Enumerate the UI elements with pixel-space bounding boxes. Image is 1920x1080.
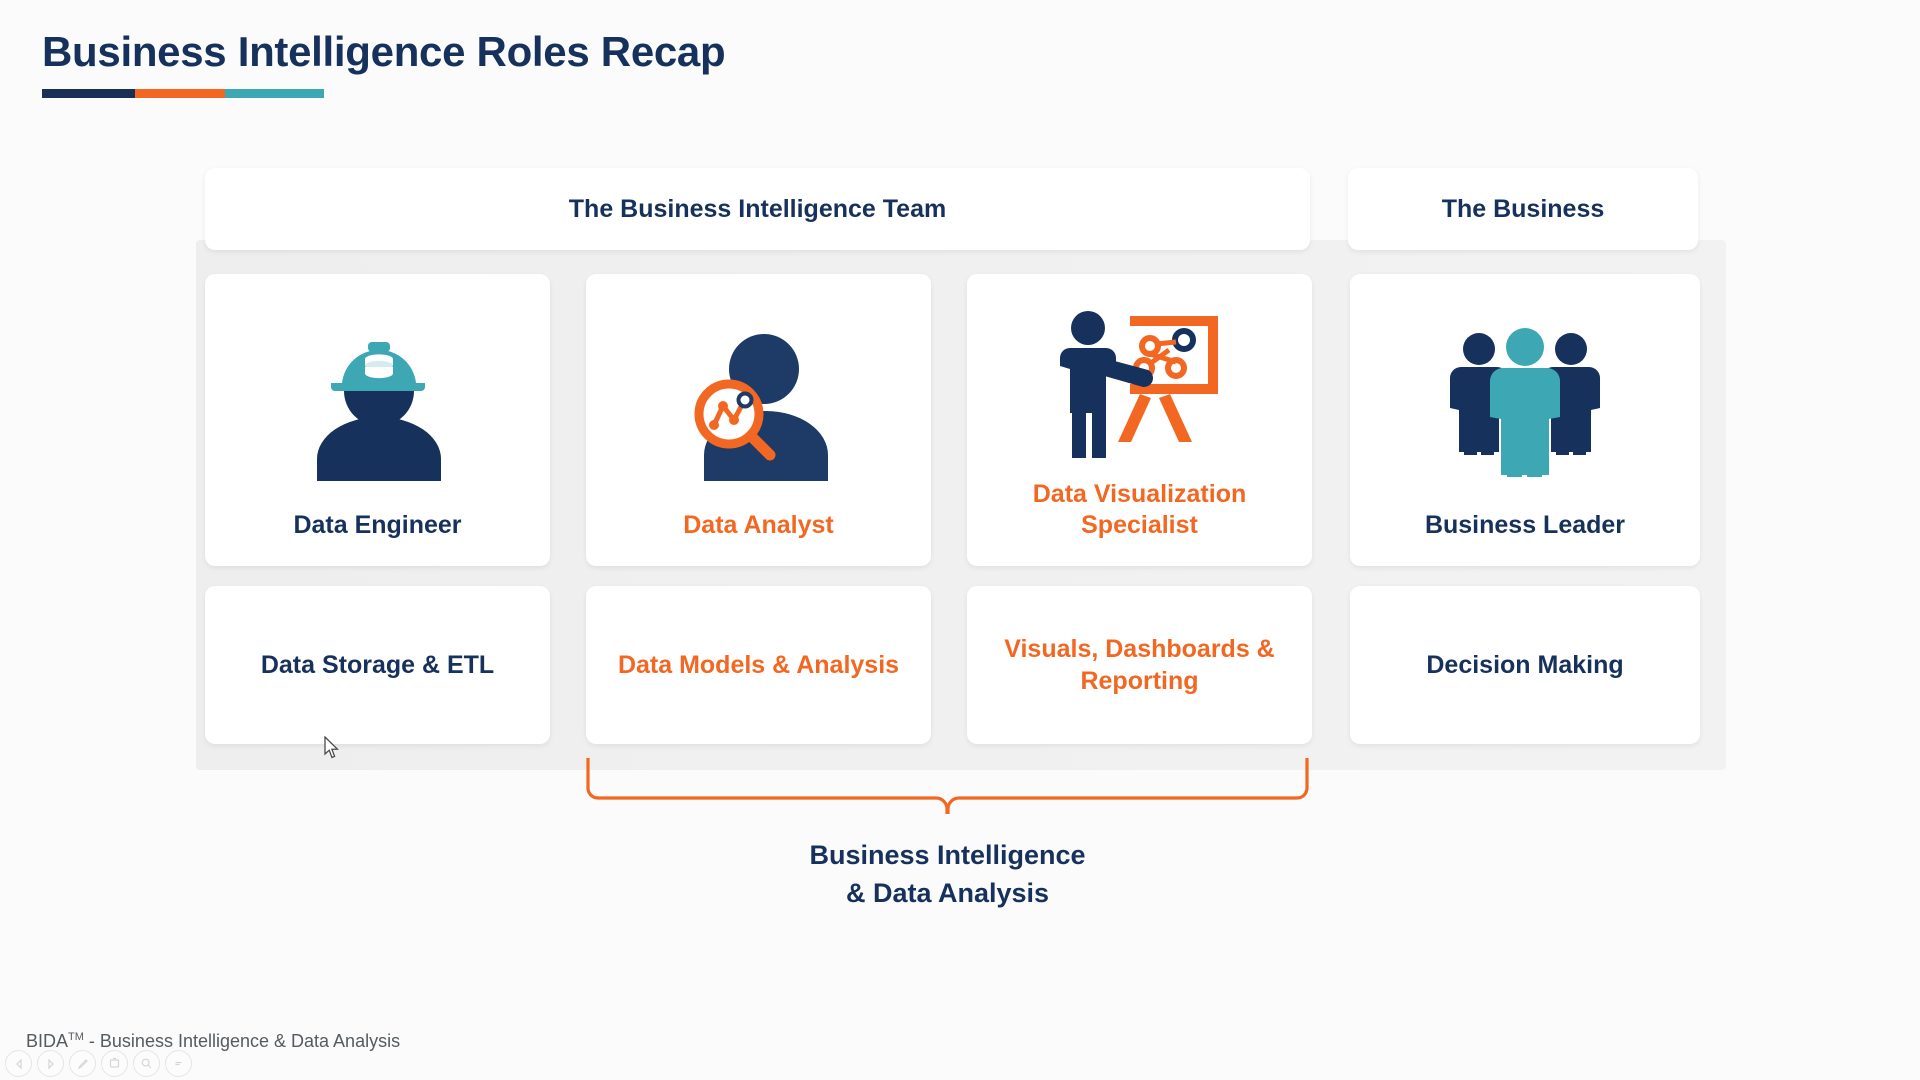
role-label-data-analyst: Data Analyst [683, 510, 834, 553]
header-label-bi-team: The Business Intelligence Team [569, 195, 946, 224]
title-block: Business Intelligence Roles Recap [42, 28, 725, 98]
underline-segment-teal [225, 89, 324, 98]
underline-segment-navy [42, 89, 135, 98]
role-card-data-analyst[interactable]: Data Analyst [586, 274, 931, 566]
deliverable-label-data-models-analysis: Data Models & Analysis [618, 649, 899, 682]
footer-trademark: TM [68, 1031, 84, 1043]
mouse-cursor [324, 736, 342, 762]
role-label-business-leader: Business Leader [1425, 510, 1625, 553]
header-card-bi-team: The Business Intelligence Team [205, 168, 1310, 250]
grid-deliverables-row: Data Storage & ETL Data Models & Analysi… [205, 586, 1721, 744]
three-people-group-icon [1364, 292, 1686, 510]
deliverable-card-visuals-dashboards-reporting[interactable]: Visuals, Dashboards & Reporting [967, 586, 1312, 744]
role-card-data-engineer[interactable]: Data Engineer [205, 274, 550, 566]
page-title: Business Intelligence Roles Recap [42, 28, 725, 76]
footer-attribution: BIDATM - Business Intelligence & Data An… [26, 1031, 400, 1052]
grouping-brace [585, 758, 1310, 814]
more-options-button[interactable] [165, 1050, 192, 1077]
roles-grid: The Business Intelligence Team The Busin… [205, 168, 1721, 744]
grid-roles-row: Data Engineer [205, 274, 1721, 566]
previous-slide-button[interactable] [5, 1050, 32, 1077]
zoom-search-button[interactable] [133, 1050, 160, 1077]
deliverable-label-decision-making: Decision Making [1426, 649, 1623, 682]
role-card-business-leader[interactable]: Business Leader [1350, 274, 1700, 566]
role-label-data-engineer: Data Engineer [293, 510, 461, 553]
footer-brand: BIDA [26, 1031, 68, 1051]
header-card-the-business: The Business [1348, 168, 1698, 250]
header-label-the-business: The Business [1442, 195, 1605, 224]
grid-header-row: The Business Intelligence Team The Busin… [205, 168, 1721, 250]
pen-tool-button[interactable] [69, 1050, 96, 1077]
present-mode-button[interactable] [101, 1050, 128, 1077]
summary-caption: Business Intelligence & Data Analysis [585, 836, 1310, 913]
title-underline [42, 89, 324, 98]
deliverable-card-decision-making[interactable]: Decision Making [1350, 586, 1700, 744]
presentation-toolbar [5, 1050, 192, 1077]
footer-tagline: - Business Intelligence & Data Analysis [89, 1031, 400, 1051]
deliverable-label-visuals-dashboards-reporting: Visuals, Dashboards & Reporting [985, 633, 1294, 698]
summary-caption-line-1: Business Intelligence [585, 836, 1310, 874]
next-slide-button[interactable] [37, 1050, 64, 1077]
role-card-data-visualization-specialist[interactable]: Data Visualization Specialist [967, 274, 1312, 566]
engineer-hardhat-database-icon [219, 292, 536, 510]
deliverable-card-data-storage-etl[interactable]: Data Storage & ETL [205, 586, 550, 744]
presenter-easel-chart-icon [981, 292, 1298, 479]
role-label-data-visualization-specialist: Data Visualization Specialist [981, 479, 1298, 552]
underline-segment-orange [135, 89, 225, 98]
analyst-magnifier-chart-icon [600, 292, 917, 510]
deliverable-card-data-models-analysis[interactable]: Data Models & Analysis [586, 586, 931, 744]
summary-caption-line-2: & Data Analysis [585, 874, 1310, 912]
deliverable-label-data-storage-etl: Data Storage & ETL [261, 649, 494, 682]
